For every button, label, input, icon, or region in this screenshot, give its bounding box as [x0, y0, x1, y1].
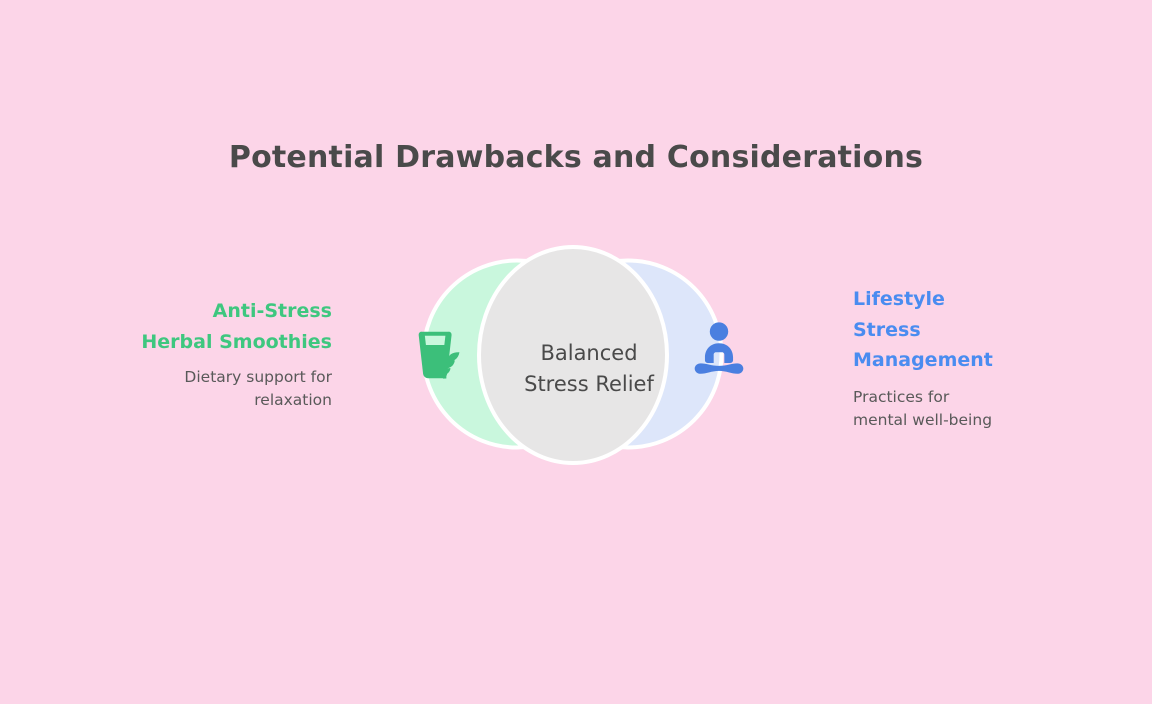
right-desc-line-2: mental well-being [853, 409, 1068, 432]
right-title-line-3: Management [853, 345, 1068, 376]
center-label-line-2: Stress Relief [495, 369, 683, 400]
left-title-line-1: Anti-Stress [120, 296, 332, 327]
right-label-title: Lifestyle Stress Management [853, 284, 1068, 376]
right-label-block: Lifestyle Stress Management Practices fo… [853, 284, 1068, 432]
left-label-title: Anti-Stress Herbal Smoothies [120, 296, 332, 357]
left-title-line-2: Herbal Smoothies [120, 327, 332, 358]
right-desc-line-1: Practices for [853, 386, 1068, 409]
smoothie-glass-icon [408, 322, 470, 384]
left-label-description: Dietary support for relaxation [120, 366, 332, 412]
page-title: Potential Drawbacks and Considerations [0, 140, 1152, 175]
left-label-block: Anti-Stress Herbal Smoothies Dietary sup… [120, 296, 332, 412]
center-label-line-1: Balanced [495, 338, 683, 369]
meditating-person-icon [688, 318, 750, 380]
left-desc-line-1: Dietary support for [120, 366, 332, 389]
left-desc-line-2: relaxation [120, 389, 332, 412]
right-title-line-1: Lifestyle [853, 284, 1068, 315]
right-title-line-2: Stress [853, 315, 1068, 346]
center-overlap-label: Balanced Stress Relief [495, 338, 683, 400]
right-label-description: Practices for mental well-being [853, 386, 1068, 432]
